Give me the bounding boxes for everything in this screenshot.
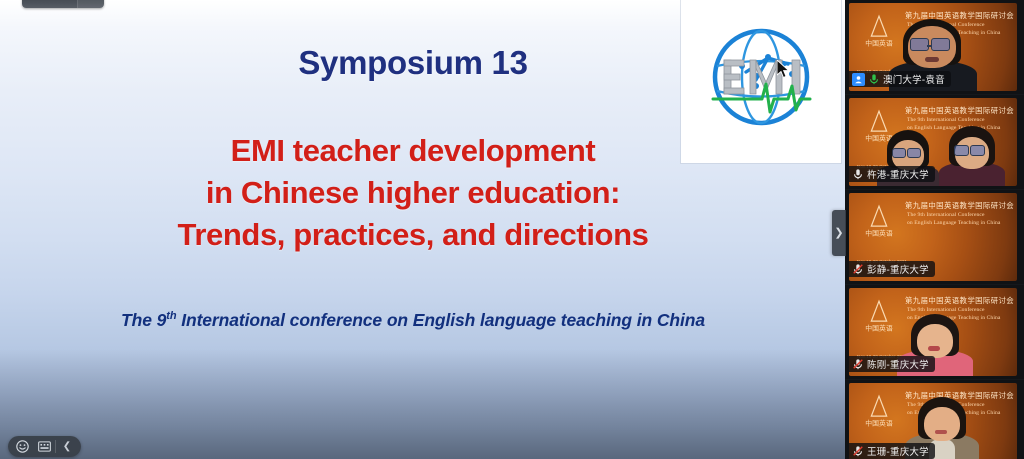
participant-video: 中国英语 第九届中国英语教学国际研讨会 The 9th Internationa…: [849, 288, 1017, 376]
participant-video: 中国英语 第九届中国英语教学国际研讨会 The 9th Internationa…: [849, 383, 1017, 459]
host-badge-icon: [852, 73, 865, 86]
conference-banner-logo-icon: 中国英语: [856, 298, 902, 332]
subtitle-ordinal: th: [166, 310, 176, 322]
participant-name-bar: 杵港-重庆大学: [849, 166, 935, 182]
subtitle-prefix: The 9: [121, 310, 166, 330]
emi-logo-panel: [681, 0, 841, 163]
banner-title-cn: 第九届中国英语教学国际研讨会: [905, 200, 1013, 211]
participant-tile[interactable]: 中国英语 第九届中国英语教学国际研讨会 The 9th Internationa…: [845, 190, 1024, 285]
participant-video: 中国英语 第九届中国英语教学国际研讨会 The 9th Internationa…: [849, 3, 1017, 91]
participant-tile[interactable]: 中国英语 第九届中国英语教学国际研讨会 The 9th Internationa…: [845, 285, 1024, 380]
participant-tile[interactable]: 中国英语 第九届中国英语教学国际研讨会 The 9th Internationa…: [845, 380, 1024, 459]
emoji-reaction-button[interactable]: [11, 438, 33, 455]
microphone-muted-icon: [852, 445, 864, 457]
emi-logo-icon: [696, 14, 826, 144]
participant-video: 中国英语 第九届中国英语教学国际研讨会 The 9th Internationa…: [849, 193, 1017, 281]
participant-name-bar: 陈刚-重庆大学: [849, 356, 935, 372]
svg-text:中国英语: 中国英语: [865, 228, 893, 237]
participant-video: 中国英语 第九届中国英语教学国际研讨会 The 9th Internationa…: [849, 98, 1017, 186]
banner-title-en-1: The 9th International Conference: [907, 117, 1013, 123]
meeting-controls-pill-segment[interactable]: [77, 0, 104, 8]
slide-conference-subtitle: The 9th International conference on Engl…: [0, 310, 826, 331]
collapse-toolbar-button[interactable]: ❮: [56, 438, 78, 455]
microphone-muted-icon: [852, 263, 864, 275]
participant-filmstrip[interactable]: 中国英语 第九届中国英语教学国际研讨会 The 9th Internationa…: [845, 0, 1024, 459]
subtitle-suffix: International conference on English lang…: [176, 310, 705, 330]
shared-screen-stage[interactable]: Symposium 13 EMI teacher development in …: [0, 0, 845, 459]
microphone-icon: [852, 168, 864, 180]
participant-name-bar: 澳门大学-袁音: [849, 71, 951, 87]
participant-tile[interactable]: 中国英语 第九届中国英语教学国际研讨会 The 9th Internationa…: [845, 95, 1024, 190]
microphone-icon: [868, 73, 880, 85]
participant-figure: [939, 126, 1005, 186]
banner-title-en-1: The 9th International Conference: [907, 212, 1013, 218]
banner-title-en-2: on English Language Teaching in China: [907, 220, 1013, 226]
slide-main-title-line-2: in Chinese higher education:: [0, 172, 826, 214]
svg-text:中国英语: 中国英语: [865, 418, 893, 427]
conference-banner-logo-icon: 中国英语: [856, 203, 902, 237]
annotate-keyboard-button[interactable]: [33, 438, 55, 455]
participant-name-bar: 王珊-重庆大学: [849, 443, 935, 459]
slide-main-title-line-3: Trends, practices, and directions: [0, 214, 826, 256]
participant-tile[interactable]: 中国英语 第九届中国英语教学国际研讨会 The 9th Internationa…: [845, 0, 1024, 95]
participant-name: 杵港-重庆大学: [867, 167, 929, 181]
presentation-slide: Symposium 13 EMI teacher development in …: [0, 0, 845, 459]
participant-name: 彭静-重庆大学: [867, 262, 929, 276]
participant-name-bar: 彭静-重庆大学: [849, 261, 935, 277]
participant-name: 王珊-重庆大学: [867, 444, 929, 458]
participant-name: 澳门大学-袁音: [883, 72, 945, 86]
conference-banner-logo-icon: 中国英语: [856, 393, 902, 427]
chevron-left-icon: ❮: [63, 442, 71, 452]
svg-text:中国英语: 中国英语: [865, 323, 893, 332]
chevron-right-icon: ❯: [834, 228, 843, 239]
participant-name: 陈刚-重庆大学: [867, 357, 929, 371]
microphone-muted-icon: [852, 358, 864, 370]
annotate-keyboard-icon: [38, 441, 51, 452]
banner-title-en-1: The 9th International Conference: [907, 307, 1013, 313]
emoji-reaction-icon: [16, 440, 29, 453]
banner-title-cn: 第九届中国英语教学国际研讨会: [905, 295, 1013, 306]
meeting-controls-pill[interactable]: [22, 0, 104, 8]
collapse-filmstrip-button[interactable]: ❯: [832, 210, 846, 256]
annotation-floating-toolbar[interactable]: ❮: [8, 436, 81, 457]
meeting-window: Symposium 13 EMI teacher development in …: [0, 0, 1024, 459]
banner-title-cn: 第九届中国英语教学国际研讨会: [905, 105, 1013, 116]
